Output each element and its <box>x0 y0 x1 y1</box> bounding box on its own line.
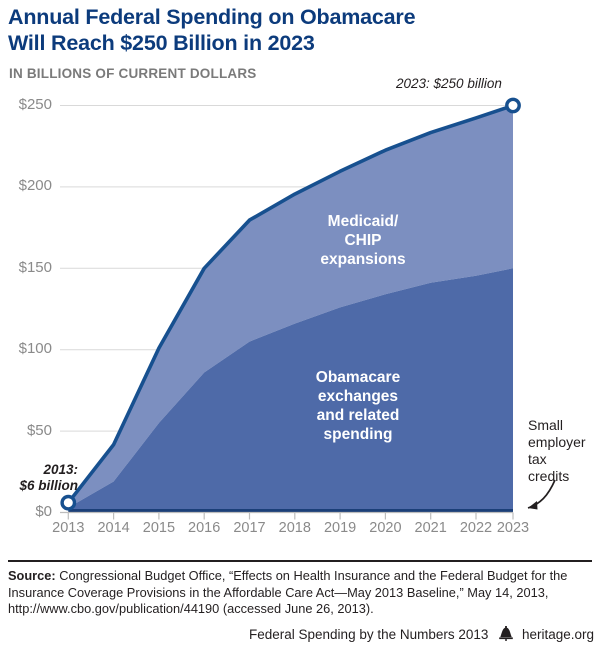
ytick-label-150: $150 <box>0 259 52 276</box>
ytick-label-200: $200 <box>0 177 52 194</box>
start-callout-line-2: $6 billion <box>19 478 78 493</box>
xtick-label-2013: 2013 <box>45 520 91 536</box>
xtick-label-2018: 2018 <box>272 520 318 536</box>
source-label: Source: <box>8 568 56 583</box>
start-point-marker <box>62 497 74 509</box>
ytick-label-100: $100 <box>0 340 52 357</box>
exchanges-label-line-4: spending <box>324 426 393 443</box>
small-employer-line-1: Small <box>528 417 563 433</box>
medicaid-label-line-3: expansions <box>320 251 405 268</box>
small-employer-line-2: employer <box>528 434 586 450</box>
source-note: Source: Congressional Budget Office, “Ef… <box>8 568 594 618</box>
start-value-callout: 2013: $6 billion <box>6 462 78 494</box>
liberty-bell-icon <box>499 626 513 644</box>
small-employer-line-3: tax <box>528 451 547 467</box>
brand-report-name: Federal Spending by the Numbers 2013 <box>249 627 488 642</box>
series-areas <box>68 106 513 513</box>
ytick-label-0: $0 <box>0 503 52 520</box>
chart-card: Annual Federal Spending on Obamacare Wil… <box>0 0 600 650</box>
xtick-label-2020: 2020 <box>362 520 408 536</box>
xtick-label-2014: 2014 <box>91 520 137 536</box>
source-text: Congressional Budget Office, “Effects on… <box>8 568 567 616</box>
ytick-label-50: $50 <box>0 422 52 439</box>
medicaid-label-line-2: CHIP <box>344 232 381 249</box>
series-label-medicaid-chip: Medicaid/ CHIP expansions <box>298 212 428 269</box>
xtick-label-2021: 2021 <box>408 520 454 536</box>
x-axis-ticks <box>68 513 513 520</box>
xtick-label-2015: 2015 <box>136 520 182 536</box>
start-callout-line-1: 2013: <box>43 462 78 477</box>
footer: Source: Congressional Budget Office, “Ef… <box>0 560 600 650</box>
footer-brand: Federal Spending by the Numbers 2013 her… <box>249 626 594 644</box>
xtick-label-2016: 2016 <box>181 520 227 536</box>
ytick-label-250: $250 <box>0 96 52 113</box>
small-employer-line-4: credits <box>528 468 569 484</box>
exchanges-label-line-3: and related <box>317 407 400 424</box>
end-value-callout: 2023: $250 billion <box>396 76 566 92</box>
brand-site: heritage.org <box>522 627 594 642</box>
footer-divider <box>8 560 592 562</box>
series-label-small-employer-tax-credits: Small employer tax credits <box>528 417 594 485</box>
end-point-marker <box>507 99 519 111</box>
series-label-obamacare-exchanges: Obamacare exchanges and related spending <box>283 368 433 444</box>
plot-area: $250 $200 $150 $100 $50 $0 2013 2014 201… <box>0 0 600 560</box>
xtick-label-2017: 2017 <box>227 520 273 536</box>
xtick-label-2023: 2023 <box>490 520 536 536</box>
medicaid-label-line-1: Medicaid/ <box>328 213 399 230</box>
exchanges-label-line-1: Obamacare <box>316 369 400 386</box>
xtick-label-2019: 2019 <box>317 520 363 536</box>
exchanges-label-line-2: exchanges <box>318 388 398 405</box>
